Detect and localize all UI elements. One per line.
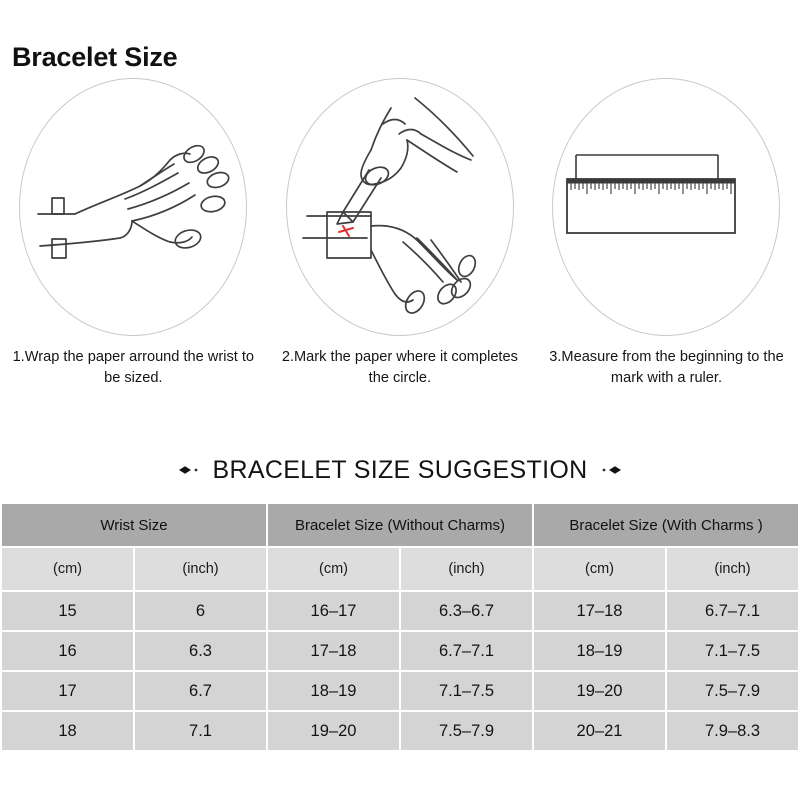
table-row: 18 7.1 19–20 7.5–7.9 20–21 7.9–8.3 (1, 711, 799, 751)
cell: 17–18 (267, 631, 400, 671)
step-3-caption: 3.Measure from the beginning to the mark… (540, 347, 792, 388)
cell: 7.1–7.5 (666, 631, 799, 671)
unit-header-4: (cm) (533, 547, 666, 591)
cell: 18–19 (533, 631, 666, 671)
flourish-left-icon (79, 463, 199, 477)
cell: 6 (134, 591, 267, 631)
cell: 6.7–7.1 (666, 591, 799, 631)
section-title-row: BRACELET SIZE SUGGESTION (0, 450, 800, 490)
unit-header-3: (inch) (400, 547, 533, 591)
step-1-illustration-circle (19, 78, 247, 336)
group-header-without-charms: Bracelet Size (Without Charms) (267, 503, 533, 547)
hand-marking-paper-with-pen-icon (295, 90, 505, 325)
flourish-right-icon (601, 463, 721, 477)
step-1: 1.Wrap the paper arround the wrist to be… (0, 78, 267, 388)
bracelet-size-table: Wrist Size Bracelet Size (Without Charms… (0, 502, 800, 752)
cell: 6.3–6.7 (400, 591, 533, 631)
unit-header-2: (cm) (267, 547, 400, 591)
section-title: BRACELET SIZE SUGGESTION (213, 456, 588, 485)
table-row: 17 6.7 18–19 7.1–7.5 19–20 7.5–7.9 (1, 671, 799, 711)
cell: 6.7 (134, 671, 267, 711)
step-2-illustration-circle (286, 78, 514, 336)
hand-with-paper-strip-icon (28, 92, 238, 322)
cell: 6.3 (134, 631, 267, 671)
table-unit-header-row: (cm) (inch) (cm) (inch) (cm) (inch) (1, 547, 799, 591)
ruler-measuring-icon (566, 107, 766, 307)
cell: 18 (1, 711, 134, 751)
cell: 17–18 (533, 591, 666, 631)
unit-header-5: (inch) (666, 547, 799, 591)
step-3: 3.Measure from the beginning to the mark… (533, 78, 800, 388)
group-header-with-charms: Bracelet Size (With Charms ) (533, 503, 799, 547)
cell: 16–17 (267, 591, 400, 631)
step-3-illustration-circle (552, 78, 780, 336)
cell: 7.5–7.9 (400, 711, 533, 751)
cell: 7.5–7.9 (666, 671, 799, 711)
cell: 7.9–8.3 (666, 711, 799, 751)
group-header-wrist-size: Wrist Size (1, 503, 267, 547)
cell: 7.1 (134, 711, 267, 751)
step-2: 2.Mark the paper where it completes the … (267, 78, 534, 388)
table-row: 15 6 16–17 6.3–6.7 17–18 6.7–7.1 (1, 591, 799, 631)
cell: 17 (1, 671, 134, 711)
cell: 19–20 (267, 711, 400, 751)
step-2-caption: 2.Mark the paper where it completes the … (274, 347, 526, 388)
page-title: Bracelet Size (12, 44, 178, 71)
steps-row: 1.Wrap the paper arround the wrist to be… (0, 78, 800, 388)
table-group-header-row: Wrist Size Bracelet Size (Without Charms… (1, 503, 799, 547)
cell: 18–19 (267, 671, 400, 711)
unit-header-1: (inch) (134, 547, 267, 591)
step-1-caption: 1.Wrap the paper arround the wrist to be… (7, 347, 259, 388)
cell: 15 (1, 591, 134, 631)
cell: 20–21 (533, 711, 666, 751)
cell: 19–20 (533, 671, 666, 711)
cell: 6.7–7.1 (400, 631, 533, 671)
table-row: 16 6.3 17–18 6.7–7.1 18–19 7.1–7.5 (1, 631, 799, 671)
cell: 7.1–7.5 (400, 671, 533, 711)
cell: 16 (1, 631, 134, 671)
unit-header-0: (cm) (1, 547, 134, 591)
